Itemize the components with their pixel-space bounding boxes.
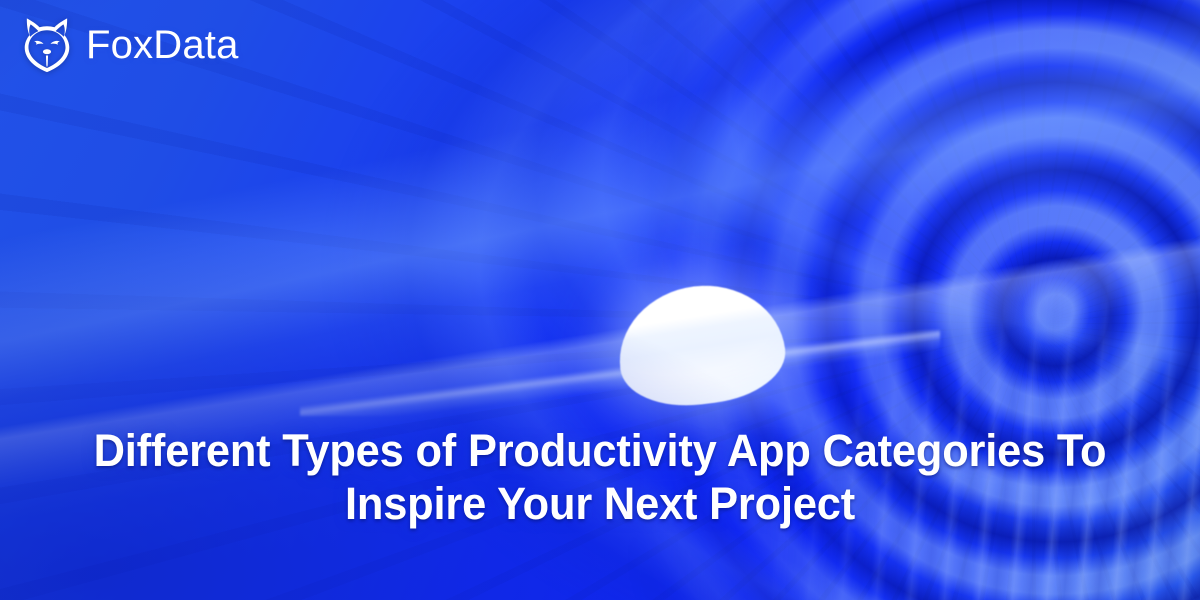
brand-logo[interactable]: FoxData — [20, 16, 239, 74]
brand-name: FoxData — [86, 25, 239, 65]
hero-banner: FoxData Different Types of Productivity … — [0, 0, 1200, 600]
headline-line-1: Different Types of Productivity App Cate… — [60, 424, 1141, 477]
headline: Different Types of Productivity App Cate… — [0, 424, 1200, 530]
headline-line-2: Inspire Your Next Project — [60, 477, 1141, 530]
background-ridge-highlight — [300, 330, 940, 416]
background-glowing-dome — [611, 276, 790, 413]
fox-head-icon — [20, 16, 74, 74]
